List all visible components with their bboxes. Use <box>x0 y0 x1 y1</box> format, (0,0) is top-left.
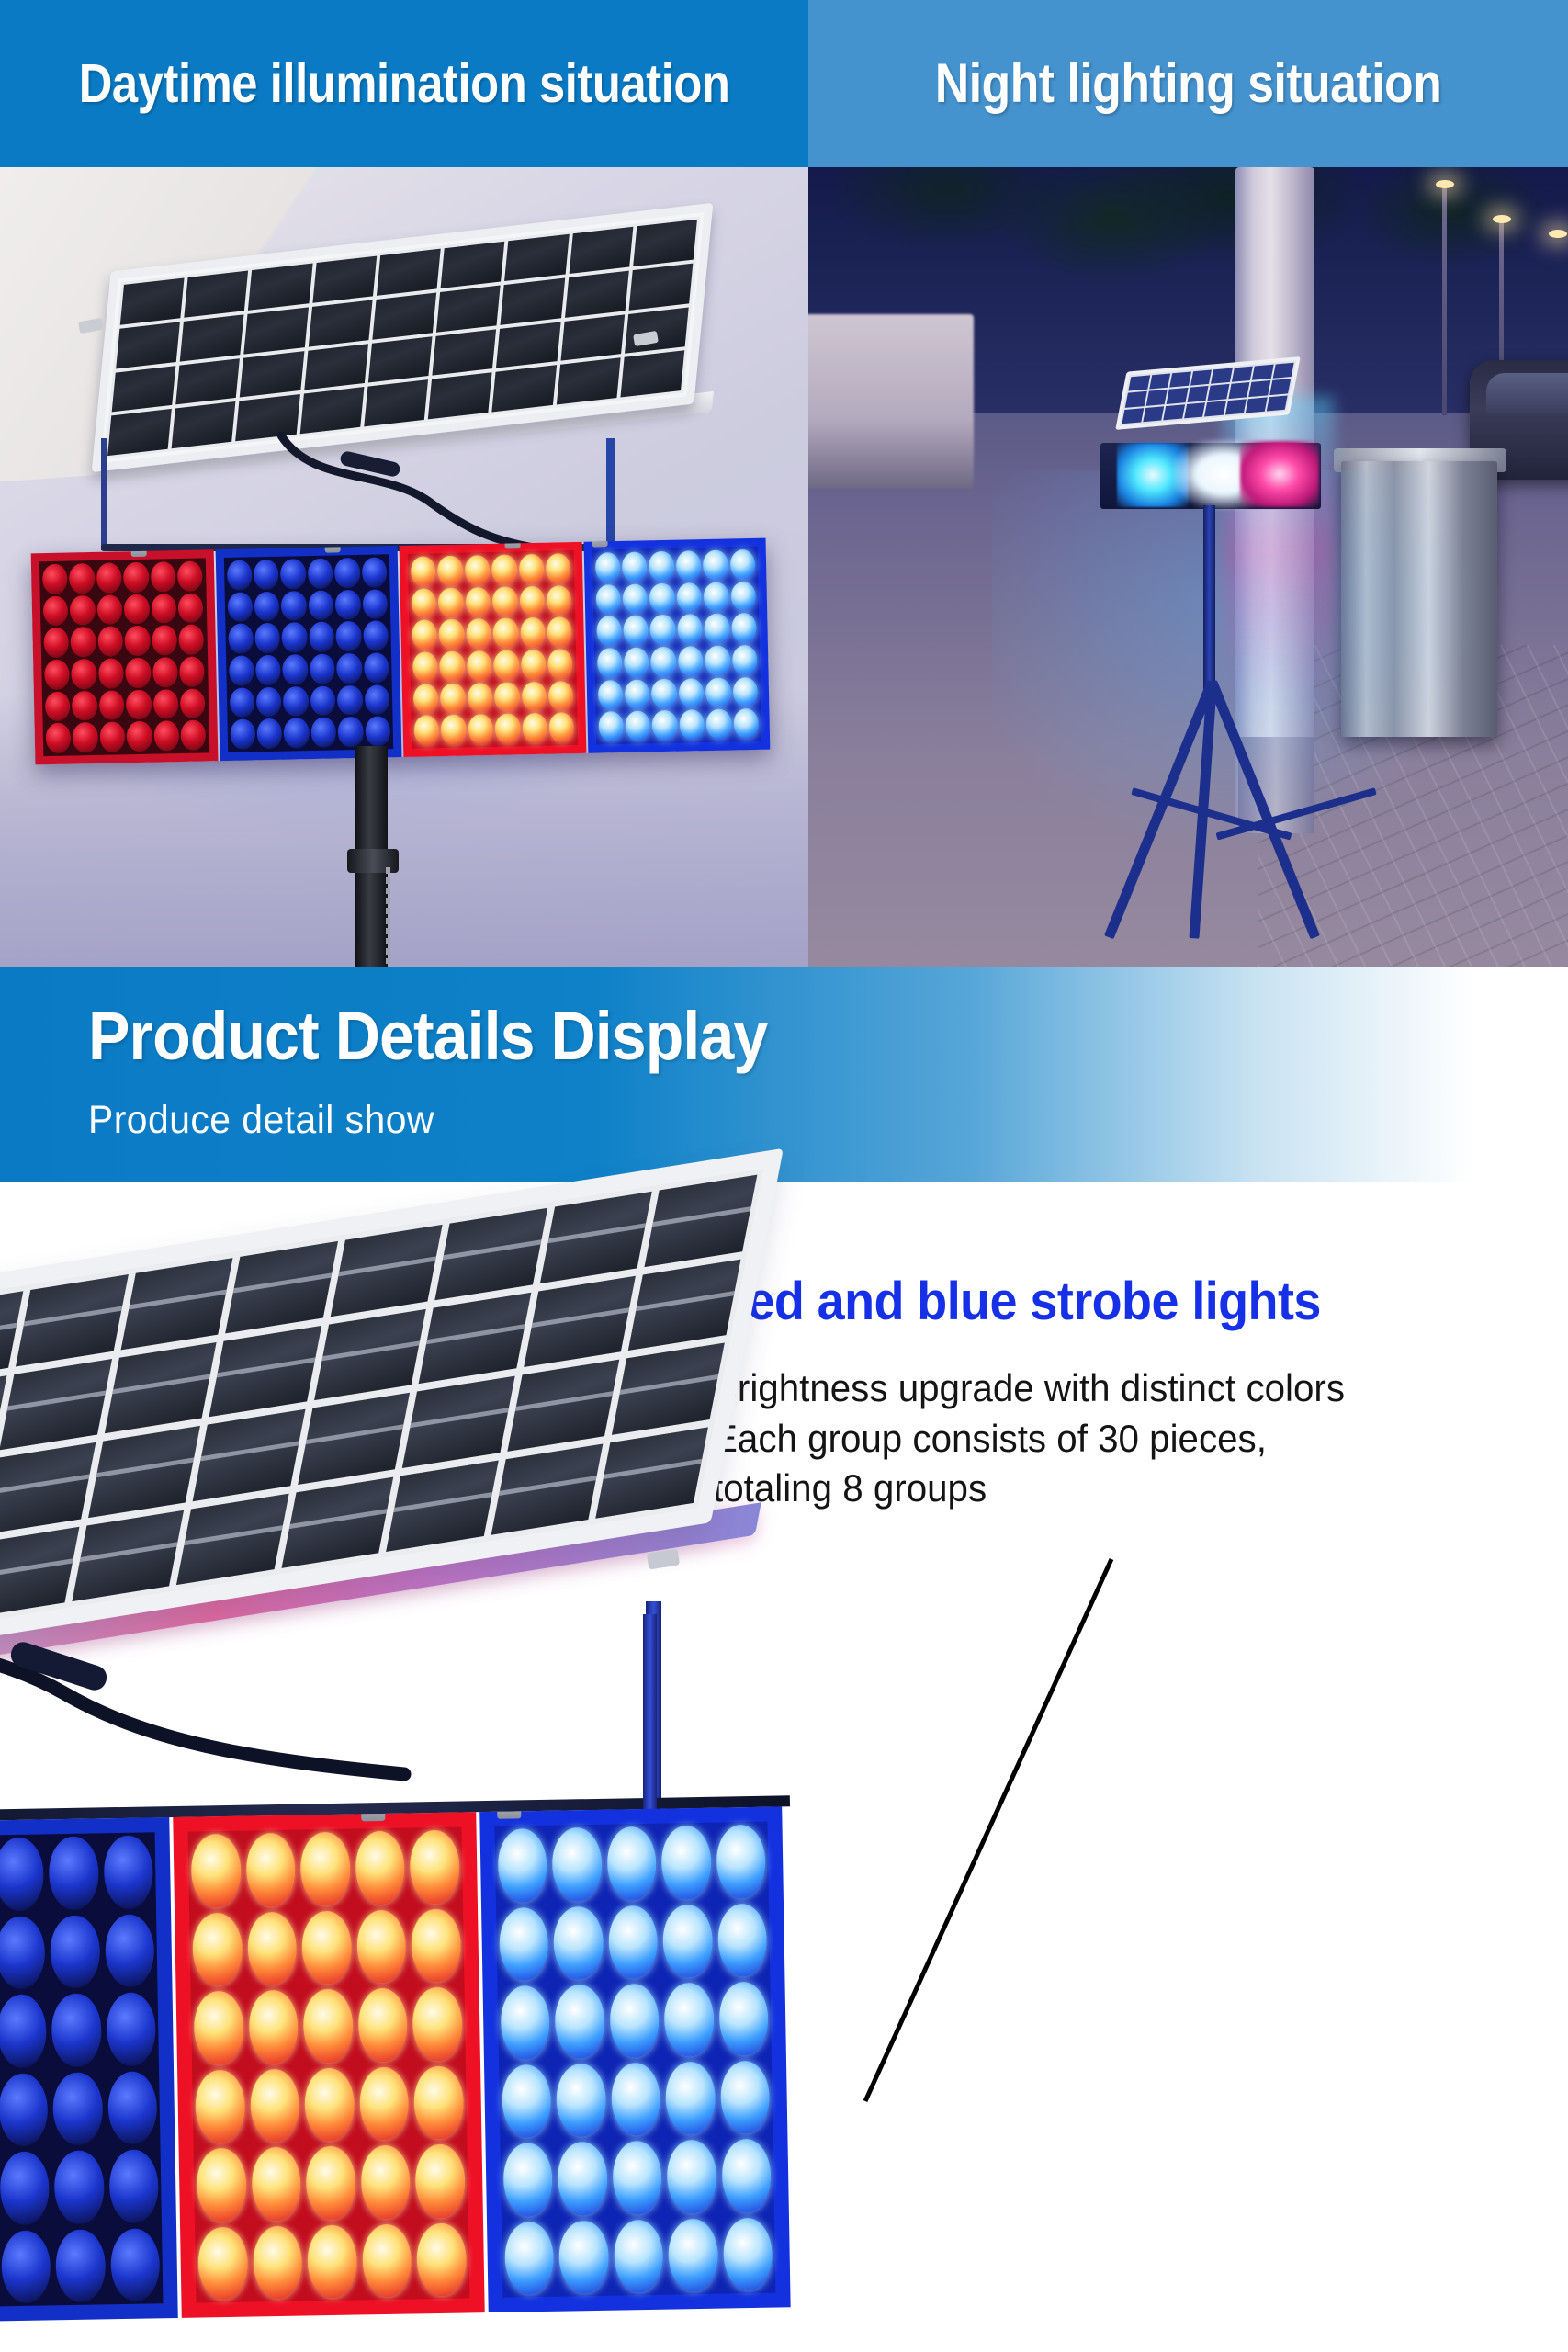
led-diode <box>281 591 307 621</box>
led-diode <box>518 554 544 584</box>
module-blue-unlit <box>215 546 401 761</box>
led-diode <box>334 558 360 588</box>
led-diode <box>365 717 390 747</box>
led-diode <box>667 2140 717 2213</box>
led-diode <box>282 622 308 652</box>
solar-cell <box>16 1274 128 1366</box>
solar-cell <box>72 1510 184 1601</box>
led-diode <box>547 616 572 647</box>
led-diode <box>110 2228 161 2301</box>
led-diode <box>623 616 649 646</box>
led-diode <box>309 622 334 652</box>
led-diode <box>606 1826 657 1900</box>
led-diode <box>502 2064 552 2137</box>
product-detail-section: Red and blue strobe lights Brightness up… <box>0 1182 1568 2352</box>
led-diode <box>51 1993 102 2066</box>
solar-cell <box>1128 375 1149 390</box>
led-diode <box>705 677 731 707</box>
callout-leader-line <box>808 1550 1194 2120</box>
mounting-bolt <box>130 549 146 557</box>
solar-cell <box>240 351 304 398</box>
led-diode <box>230 719 255 750</box>
led-diode <box>229 655 254 685</box>
mounting-bolt <box>360 1812 385 1821</box>
solar-cell <box>612 1342 724 1434</box>
led-diode <box>194 1991 244 2064</box>
solar-cell <box>1125 391 1146 407</box>
led-grid <box>0 1832 164 2308</box>
module-blue-lit <box>479 1806 791 2312</box>
solar-cell <box>1231 367 1252 382</box>
led-diode <box>308 590 333 620</box>
solar-cell <box>633 220 697 266</box>
led-diode <box>519 585 545 616</box>
led-diode <box>335 621 361 651</box>
led-diode <box>55 2229 106 2302</box>
led-diode <box>153 720 179 751</box>
led-diode <box>465 587 491 617</box>
led-diode <box>662 1904 713 1977</box>
led-diode <box>661 1826 712 1899</box>
led-diode <box>126 689 152 719</box>
security-chain <box>386 867 390 964</box>
solar-cell <box>428 372 492 419</box>
led-diode <box>411 556 436 586</box>
led-diode <box>718 1982 769 2055</box>
led-diode <box>597 680 623 710</box>
solar-cell <box>1190 370 1212 386</box>
solar-cell <box>107 409 172 456</box>
led-diode <box>0 1837 44 1910</box>
led-diode <box>106 1992 156 2065</box>
solar-cell <box>116 322 180 368</box>
led-diode <box>556 2063 606 2136</box>
solar-cell <box>225 1241 337 1333</box>
module-blue-unlit <box>0 1817 178 2324</box>
solar-cell <box>1167 388 1188 403</box>
led-diode <box>439 651 465 682</box>
solar-cell <box>435 1208 547 1300</box>
led-diode <box>412 651 438 682</box>
led-diode <box>732 645 758 675</box>
led-diode <box>356 1909 407 1983</box>
solar-cell <box>172 401 236 448</box>
led-diode <box>468 683 493 713</box>
led-diode <box>612 2141 662 2214</box>
led-diode <box>437 556 463 586</box>
led-diode <box>73 722 98 752</box>
led-diode <box>721 2139 772 2212</box>
led-diode <box>96 594 122 625</box>
pole-collar <box>347 849 399 873</box>
led-diode <box>151 561 176 592</box>
led-diode <box>704 582 729 612</box>
led-diode <box>250 2068 300 2142</box>
led-diode <box>300 1832 351 1905</box>
module-red-lit <box>400 542 586 757</box>
led-diode <box>54 2150 105 2223</box>
solar-cell <box>402 1376 514 1468</box>
led-diode <box>441 715 467 745</box>
solar-cell <box>314 1308 426 1400</box>
led-diode <box>676 550 702 581</box>
led-diode <box>729 549 755 580</box>
solar-cell <box>441 242 505 288</box>
led-diode <box>412 1987 463 2061</box>
mounting-bolt <box>504 542 520 549</box>
solar-panel-closeup <box>0 1234 827 1822</box>
solar-cell <box>372 292 436 339</box>
led-diode <box>306 2146 356 2220</box>
led-diode <box>360 2145 411 2219</box>
led-diode <box>732 677 758 707</box>
led-diode <box>465 555 491 585</box>
led-grid <box>494 1822 775 2298</box>
led-diode <box>99 722 125 752</box>
led-light-bar <box>31 538 771 765</box>
night-solar-cell-grid <box>1122 363 1293 424</box>
led-diode <box>191 1834 242 1907</box>
led-diode <box>46 723 72 753</box>
led-diode <box>72 659 97 689</box>
solar-cell <box>560 314 625 361</box>
street-lamp-head-3 <box>1549 230 1567 238</box>
daytime-product-photo <box>0 167 808 967</box>
led-diode <box>254 623 280 653</box>
led-diode <box>703 550 728 581</box>
led-diode <box>412 619 437 650</box>
led-grid <box>592 547 761 745</box>
solar-cell <box>364 379 428 426</box>
street-lamp-head-2 <box>1493 215 1511 223</box>
led-diode <box>123 562 149 593</box>
led-diode <box>301 1910 352 1984</box>
led-grid <box>408 550 578 749</box>
led-diode <box>255 655 281 685</box>
solar-cell <box>112 366 176 413</box>
led-diode <box>70 595 96 626</box>
panel-clip-detail <box>647 1548 680 1569</box>
led-diode <box>722 2217 773 2290</box>
led-diode <box>0 2151 50 2224</box>
led-diode <box>678 678 704 708</box>
led-diode <box>650 647 676 677</box>
led-diode <box>609 1984 660 2057</box>
solar-cell <box>248 264 312 311</box>
solar-cell <box>596 1427 708 1519</box>
led-diode <box>99 690 125 720</box>
led-diode <box>717 1903 768 1976</box>
led-diode <box>178 625 204 655</box>
led-diode <box>43 595 69 626</box>
led-diode <box>614 2219 664 2292</box>
solar-cell <box>105 1341 217 1433</box>
tripod-mast <box>1203 505 1215 707</box>
led-diode <box>558 2220 609 2293</box>
led-diode <box>284 718 310 748</box>
led-diode <box>283 686 309 717</box>
led-diode <box>548 681 574 711</box>
led-diode <box>649 582 675 613</box>
led-diode <box>547 585 572 616</box>
led-grid <box>223 554 393 752</box>
street-lamp-pole-1 <box>1442 186 1447 415</box>
power-cable <box>276 432 551 556</box>
solar-cell <box>628 1259 740 1351</box>
power-cable-detail <box>0 1594 441 1824</box>
led-diode <box>652 710 678 741</box>
led-diode <box>553 1905 604 1979</box>
led-diode <box>415 2143 466 2217</box>
mount-bracket-left <box>101 438 107 550</box>
solar-cell <box>368 336 433 383</box>
solar-cell <box>0 1442 96 1534</box>
header-night-label: Night lighting situation <box>920 55 1455 111</box>
led-diode <box>253 2225 303 2299</box>
led-bar-bracket <box>643 1614 657 1826</box>
led-diode <box>337 685 363 716</box>
led-diode <box>363 621 389 651</box>
led-diode <box>359 2066 410 2140</box>
solar-cell <box>1207 384 1228 400</box>
led-diode <box>502 2143 553 2216</box>
solar-cell <box>1269 379 1291 394</box>
led-diode <box>520 617 546 648</box>
led-diode <box>552 1827 603 1901</box>
header-night-panel: Night lighting situation <box>808 0 1568 167</box>
led-diode <box>494 682 520 712</box>
led-diode <box>410 1830 460 1904</box>
led-diode <box>497 1828 547 1902</box>
led-diode <box>678 646 704 676</box>
led-diode <box>705 645 730 675</box>
solar-cell <box>491 1443 604 1535</box>
solar-cell <box>1122 408 1143 424</box>
solar-cell <box>281 1476 393 1568</box>
led-grid <box>188 1826 469 2302</box>
solar-cell <box>1184 402 1205 418</box>
led-diode <box>195 2069 245 2143</box>
led-diode <box>355 1831 405 1905</box>
led-diode <box>181 720 207 751</box>
led-diode <box>72 691 97 721</box>
solar-cell <box>507 1360 619 1452</box>
module-blue-lit <box>583 538 770 753</box>
led-diode <box>521 650 547 680</box>
solar-cell <box>1143 406 1164 422</box>
solar-cell <box>1149 373 1170 389</box>
solar-cell <box>1228 382 1249 398</box>
solar-cell <box>1266 395 1287 411</box>
led-diode <box>416 2222 467 2296</box>
solar-cell <box>625 307 689 354</box>
led-diode <box>468 714 493 744</box>
mount-bracket-right <box>606 438 615 548</box>
led-diode <box>227 592 253 622</box>
solar-cell <box>504 234 569 281</box>
led-diode <box>280 559 306 589</box>
led-diode <box>124 594 150 624</box>
led-diode <box>228 624 254 654</box>
led-diode <box>97 627 123 657</box>
led-diode <box>706 709 732 740</box>
led-diode <box>254 560 279 590</box>
led-diode <box>521 681 547 711</box>
led-diode <box>558 2142 608 2215</box>
solar-cell <box>180 314 244 361</box>
solar-cell <box>645 1175 757 1267</box>
led-diode <box>226 560 252 590</box>
led-grid <box>39 558 209 756</box>
led-diode <box>676 582 702 613</box>
led-diode <box>492 586 518 616</box>
led-diode <box>595 584 621 615</box>
led-diode <box>440 683 466 713</box>
led-diode <box>668 2218 718 2291</box>
led-diode <box>338 717 364 747</box>
led-diode <box>664 1983 715 2056</box>
led-diode <box>413 2065 464 2139</box>
led-diode <box>125 658 151 688</box>
led-diode <box>49 1836 99 1909</box>
solar-cell <box>1169 372 1190 388</box>
led-diode <box>522 713 547 743</box>
led-diode <box>151 594 176 624</box>
solar-cell <box>540 1192 652 1283</box>
led-light-bar-closeup <box>0 1806 795 2323</box>
module-red-unlit <box>31 549 218 764</box>
section-header-row: Daytime illumination situation Night lig… <box>0 0 1568 167</box>
led-diode <box>152 625 177 655</box>
led-diode <box>107 2071 158 2144</box>
led-diode <box>625 679 650 709</box>
led-diode <box>500 1985 550 2059</box>
led-diode <box>251 2147 301 2221</box>
photo-comparison-row <box>0 167 1568 967</box>
product-detail-page: Daytime illumination situation Night lig… <box>0 0 1568 2352</box>
led-diode <box>439 619 465 650</box>
led-diode <box>549 712 575 742</box>
led-diode <box>411 1908 461 1982</box>
led-diode <box>254 591 280 621</box>
led-diode <box>362 589 388 619</box>
parked-truck <box>808 314 974 489</box>
led-diode <box>51 1915 101 1988</box>
led-diode <box>650 615 676 645</box>
solar-cell <box>244 307 309 354</box>
led-diode <box>596 616 622 646</box>
led-diode <box>177 560 203 591</box>
solar-cell <box>492 365 557 412</box>
led-diode <box>716 1825 766 1898</box>
led-diode <box>229 687 254 718</box>
solar-cell <box>628 263 693 310</box>
solar-cell <box>331 1225 443 1317</box>
led-diode <box>413 715 439 745</box>
banner-subtitle: Produce detail show <box>88 1098 434 1143</box>
solar-cell <box>1163 404 1184 420</box>
car-window <box>1486 373 1568 413</box>
led-diode <box>547 649 573 679</box>
led-diode <box>43 628 69 658</box>
led-diode <box>308 559 333 589</box>
solar-cell <box>309 300 373 346</box>
led-diode <box>69 563 95 594</box>
led-diode <box>730 582 756 612</box>
solar-cell <box>620 351 684 398</box>
led-diode <box>127 721 152 752</box>
led-diode <box>733 708 759 739</box>
led-diode <box>304 2067 355 2141</box>
led-diode <box>651 678 677 708</box>
led-diode <box>152 689 178 719</box>
led-diode <box>335 590 361 620</box>
led-diode <box>594 552 620 582</box>
solar-cell <box>436 285 501 332</box>
solar-cell <box>524 1275 636 1367</box>
led-diode <box>103 1835 153 1908</box>
led-diode <box>555 1984 605 2058</box>
led-diode <box>364 652 389 683</box>
led-diode <box>362 2223 412 2297</box>
solar-cell <box>0 1359 112 1451</box>
led-diode <box>413 684 439 714</box>
led-diode <box>310 654 335 684</box>
solar-cell <box>432 329 496 376</box>
solar-cell <box>298 1393 410 1485</box>
led-diode <box>336 653 362 684</box>
led-diode <box>438 587 464 617</box>
module-red-lit <box>174 1812 485 2318</box>
solar-cell <box>565 270 629 317</box>
solar-cell <box>1187 386 1208 401</box>
solar-cell <box>419 1292 531 1384</box>
solar-cell <box>209 1325 321 1417</box>
strobe-flash-red <box>1240 441 1319 507</box>
led-diode <box>499 1906 549 1980</box>
solar-cell <box>120 1258 232 1350</box>
solar-cell <box>386 1460 498 1552</box>
led-diode <box>611 2062 661 2135</box>
led-diode <box>197 2226 248 2300</box>
led-diode <box>649 551 674 582</box>
solar-cell <box>0 1291 23 1383</box>
led-diode <box>303 1989 354 2063</box>
led-diode <box>504 2221 555 2294</box>
led-diode <box>152 657 178 687</box>
led-diode <box>44 660 70 690</box>
led-diode <box>180 688 206 718</box>
led-diode <box>731 613 757 643</box>
led-diode <box>256 686 282 717</box>
led-diode <box>665 2061 716 2134</box>
solar-cell <box>569 227 633 274</box>
solar-cell <box>1145 390 1167 405</box>
led-diode <box>105 1914 155 1987</box>
led-diode <box>625 711 650 741</box>
solar-cell <box>1246 397 1267 413</box>
solar-cell <box>1224 399 1246 414</box>
led-diode <box>622 551 648 582</box>
street-lamp-head-1 <box>1436 180 1454 188</box>
led-diode <box>42 564 68 594</box>
led-diode <box>179 656 205 686</box>
led-diode <box>282 654 308 684</box>
led-diode <box>310 685 336 716</box>
solar-cell <box>1204 401 1225 416</box>
led-diode <box>679 709 705 740</box>
led-diode <box>704 614 729 644</box>
